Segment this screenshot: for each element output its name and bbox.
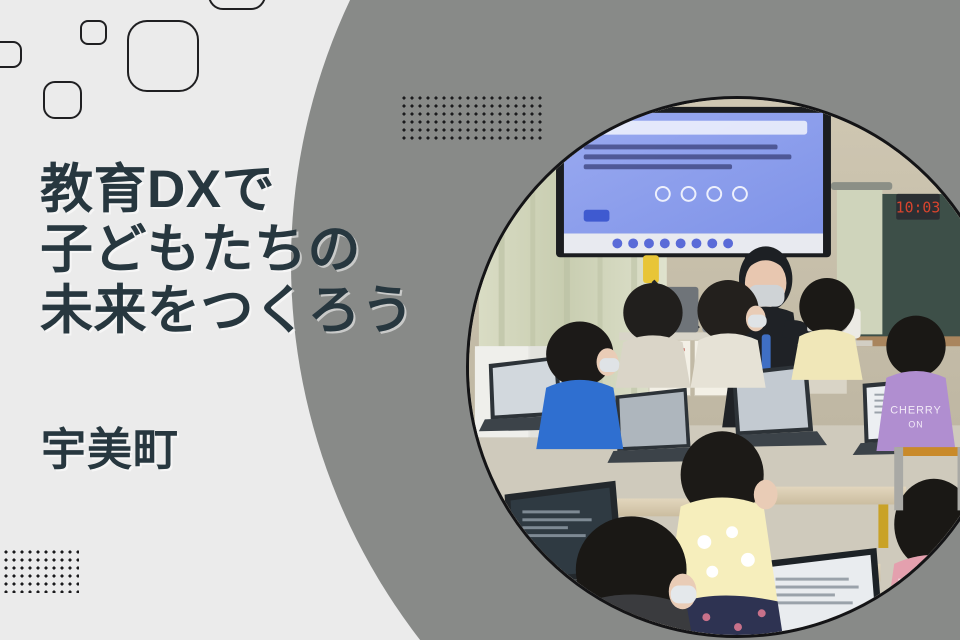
rounded-square-small-left-icon [0,41,22,68]
dot-grid-top [400,94,546,144]
headline-block: 教育DXで 子どもたちの 未来をつくろう [40,160,460,341]
rounded-square-large-icon [127,20,199,92]
town-name: 宇美町 [41,425,179,475]
svg-text:ON: ON [908,419,923,429]
rounded-square-medium-icon [43,81,82,119]
rounded-square-top-cut-icon [208,0,266,10]
classroom-photo-illustration: 10:03 [469,99,960,635]
svg-text:CHERRY: CHERRY [890,404,942,416]
classroom-photo-inner: 10:03 [469,99,960,635]
student: CHERRY ON [876,316,955,451]
poster-canvas: 10:03 [0,0,960,640]
svg-text:10:03: 10:03 [896,200,941,217]
dot-grid-bottom [0,548,79,593]
rounded-square-tiny-icon [80,20,107,45]
page-title: 教育DXで 子どもたちの 未来をつくろう [40,160,460,341]
